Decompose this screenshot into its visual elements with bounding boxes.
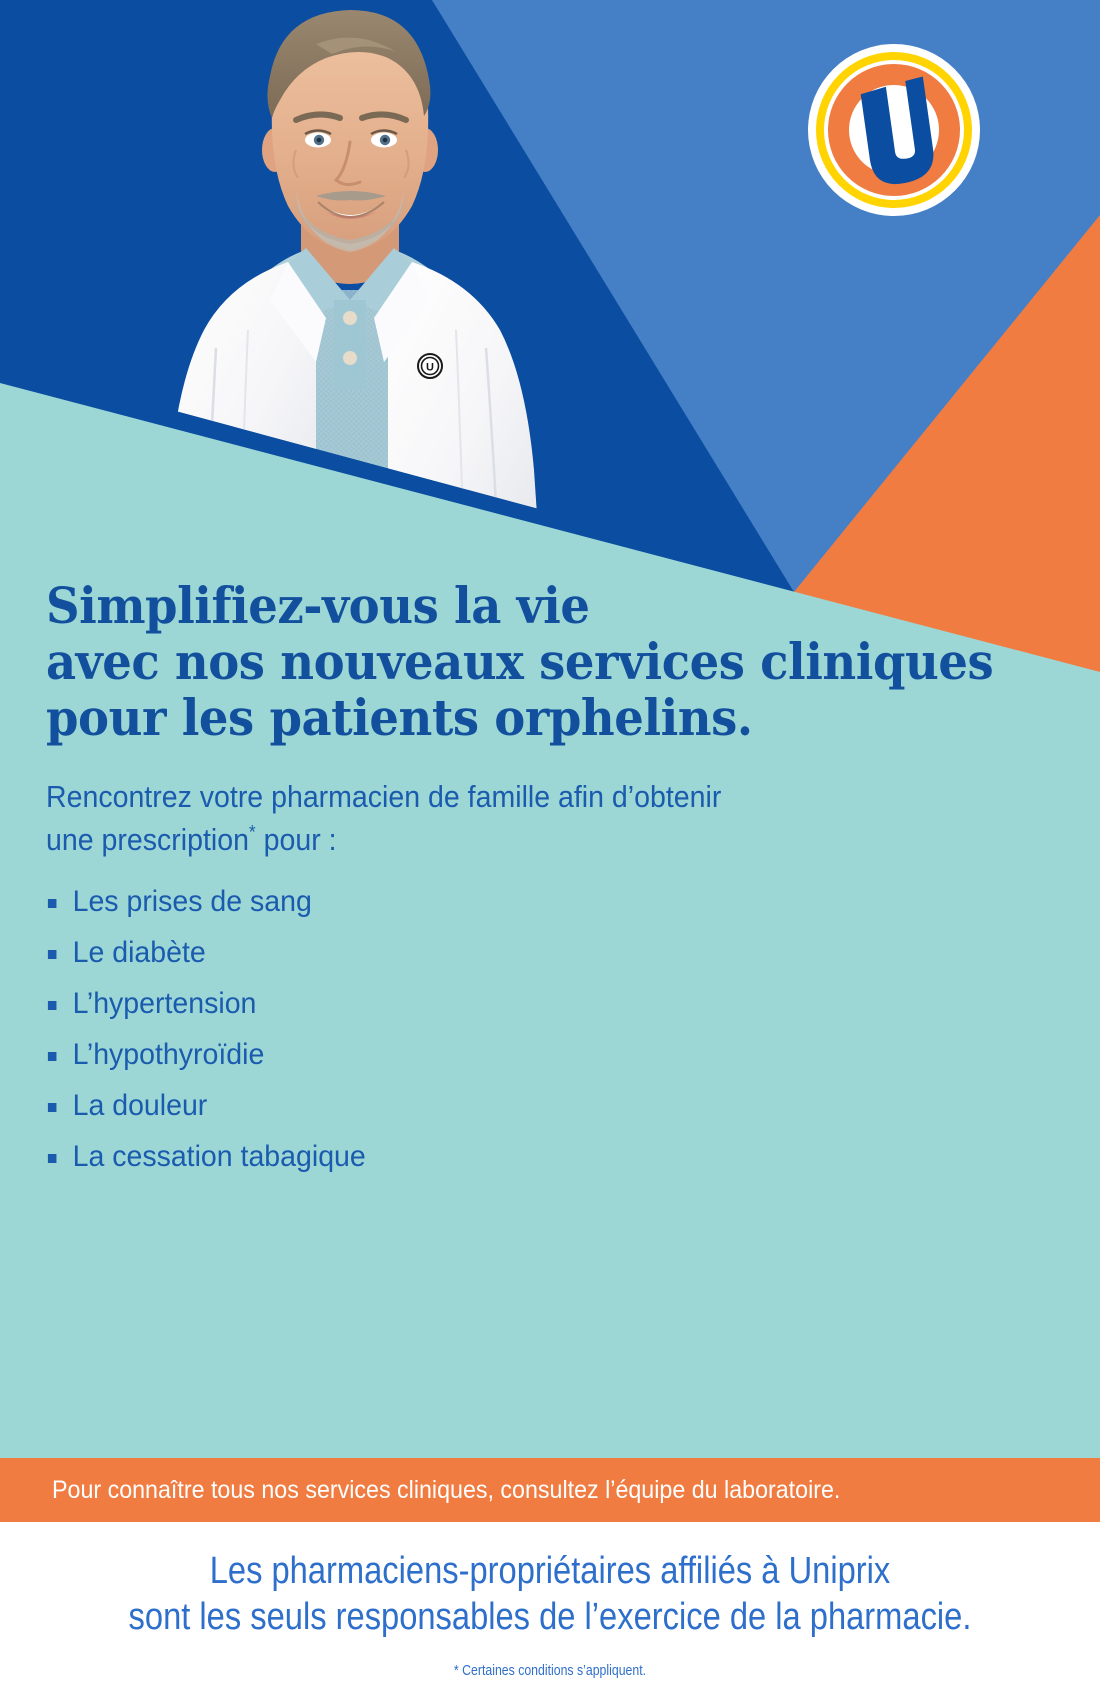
list-item: L’hypothyroïdie [46,1029,806,1080]
list-item: Les prises de sang [46,876,806,927]
callout-band: Pour connaître tous nos services cliniqu… [0,1458,1100,1522]
footer-line-1: Les pharmaciens-propriétaires affiliés à… [77,1548,1023,1594]
bullet-square-icon [48,1154,57,1163]
subheading: Rencontrez votre pharmacien de famille a… [46,775,948,861]
callout-band-text: Pour connaître tous nos services cliniqu… [52,1475,840,1505]
list-item: La douleur [46,1080,806,1131]
list-item-label: La cessation tabagique [73,1140,366,1173]
subheading-line-2-text: une prescription [46,822,249,857]
subheading-line-2-tail: pour : [256,822,337,857]
bullet-square-icon [48,1103,57,1112]
list-item-label: L’hypertension [73,987,257,1020]
list-item: La cessation tabagique [46,1131,806,1182]
legal-footer: Les pharmaciens-propriétaires affiliés à… [0,1522,1100,1700]
bullet-square-icon [48,899,57,908]
page-title: Simplifiez-vous la vie avec nos nouveaux… [46,578,995,746]
list-item-label: Le diabète [73,936,206,969]
bullet-square-icon [48,1001,57,1010]
list-item-label: La douleur [73,1089,208,1122]
subheading-line-1: Rencontrez votre pharmacien de famille a… [46,775,948,818]
headline-line-3: pour les patients orphelins. [46,690,995,746]
headline-line-2: avec nos nouveaux services cliniques [46,634,995,690]
list-item: Le diabète [46,927,806,978]
services-list: Les prises de sang Le diabète L’hyperten… [46,876,846,1182]
poster-root: U [0,0,1100,1700]
subheading-line-2: une prescription* pour : [46,818,948,861]
footer-disclaimer: * Certaines conditions s’appliquent. [99,1662,1001,1680]
list-item-label: L’hypothyroïdie [73,1038,265,1071]
bullet-square-icon [48,950,57,959]
asterisk-mark: * [249,823,256,844]
bullet-square-icon [48,1052,57,1061]
list-item: L’hypertension [46,978,806,1029]
list-item-label: Les prises de sang [73,885,312,918]
poster-content: Simplifiez-vous la vie avec nos nouveaux… [0,0,1100,1700]
footer-line-2: sont les seuls responsables de l’exercic… [77,1594,1023,1640]
headline-line-1: Simplifiez-vous la vie [46,578,995,634]
uniprix-logo [806,42,982,218]
